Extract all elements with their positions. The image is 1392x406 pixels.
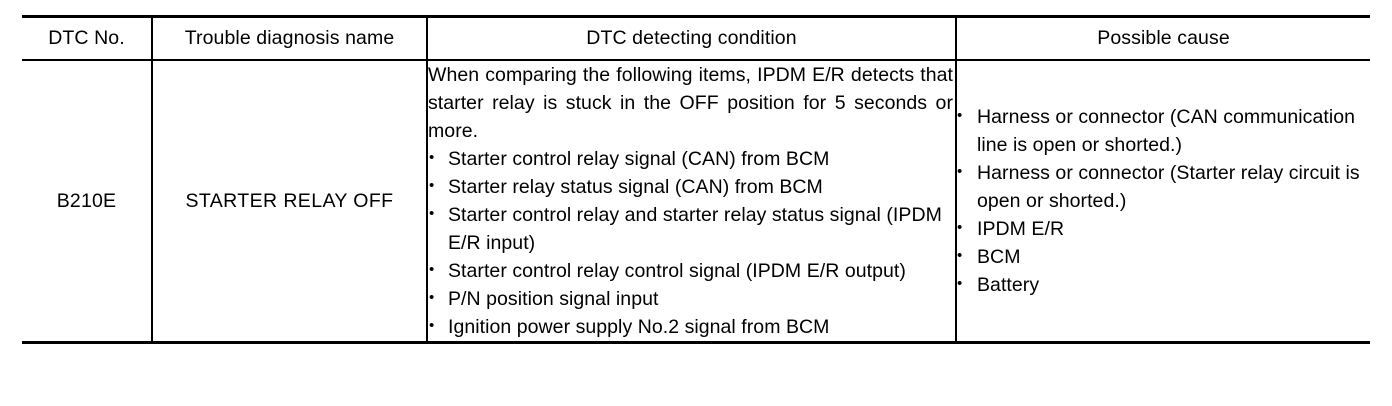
table-header: DTC No. Trouble diagnosis name DTC detec… [22,17,1370,61]
dtc-table: DTC No. Trouble diagnosis name DTC detec… [22,15,1370,344]
list-item: Starter control relay and starter relay … [428,201,955,257]
possible-cause-list: Harness or connector (CAN communication … [957,103,1370,299]
list-item: Battery [957,271,1370,299]
cell-dtc-no: B210E [22,60,152,343]
table-body: B210E STARTER RELAY OFF When comparing t… [22,60,1370,343]
cell-trouble-diagnosis-name: STARTER RELAY OFF [152,60,427,343]
list-item: Starter control relay signal (CAN) from … [428,145,955,173]
trouble-diagnosis-name-text: STARTER RELAY OFF [186,190,394,212]
table-row: B210E STARTER RELAY OFF When comparing t… [22,60,1370,343]
condition-intro-text: When comparing the following items, IPDM… [428,61,955,145]
list-item: P/N position signal input [428,285,955,313]
list-item: Ignition power supply No.2 signal from B… [428,313,955,341]
list-item: Harness or connector (CAN communication … [957,103,1370,159]
list-item: Starter control relay control signal (IP… [428,257,955,285]
header-row: DTC No. Trouble diagnosis name DTC detec… [22,17,1370,61]
page-root: DTC No. Trouble diagnosis name DTC detec… [0,0,1392,406]
column-header-possible-cause: Possible cause [956,17,1370,61]
list-item: Harness or connector (Starter relay circ… [957,159,1370,215]
list-item: BCM [957,243,1370,271]
column-header-trouble-diagnosis-name: Trouble diagnosis name [152,17,427,61]
column-header-dtc-no: DTC No. [22,17,152,61]
column-header-dtc-detecting-condition: DTC detecting condition [427,17,956,61]
condition-item-list: Starter control relay signal (CAN) from … [428,145,955,341]
cell-dtc-detecting-condition: When comparing the following items, IPDM… [427,60,956,343]
list-item: Starter relay status signal (CAN) from B… [428,173,955,201]
list-item: IPDM E/R [957,215,1370,243]
cell-possible-cause: Harness or connector (CAN communication … [956,60,1370,343]
